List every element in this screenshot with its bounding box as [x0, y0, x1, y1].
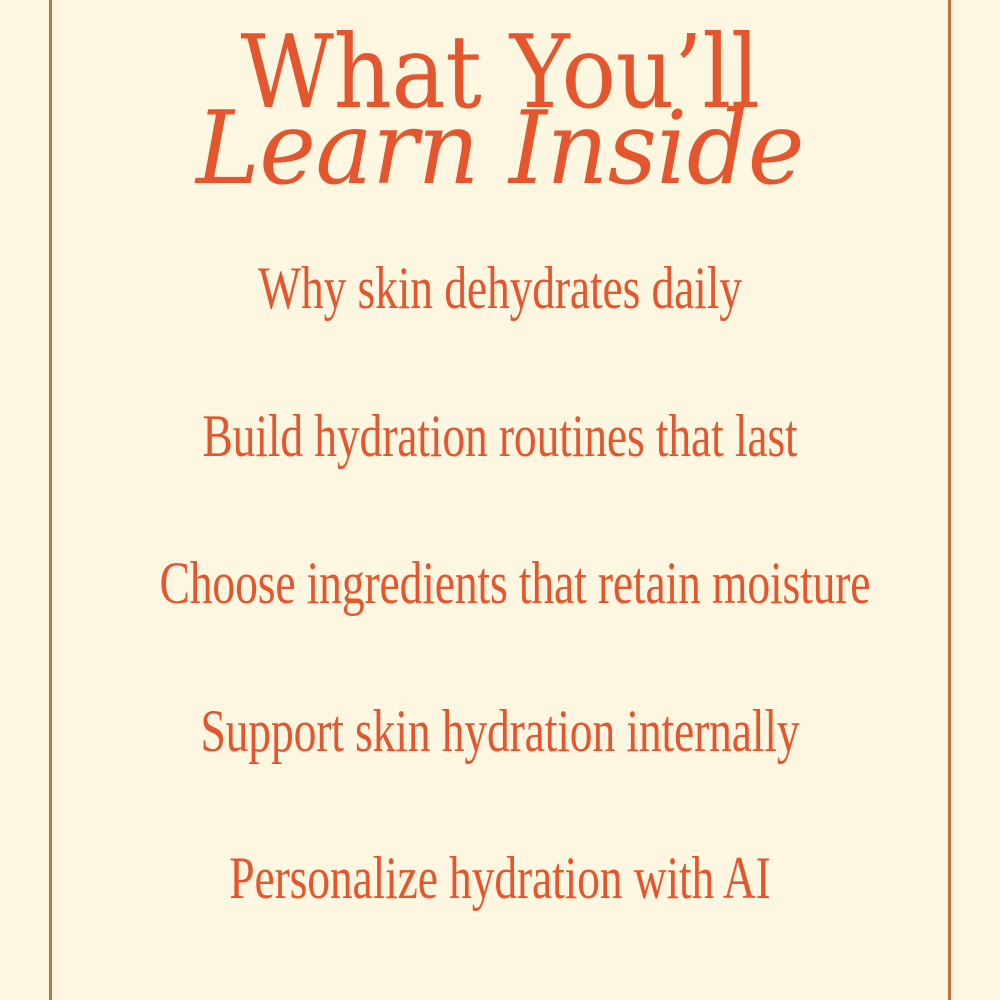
list-item: Choose ingredients that retain moisture: [160, 553, 841, 613]
right-vertical-rule: [948, 0, 951, 1000]
poster-content: What You’ll Learn Inside Why skin dehydr…: [52, 0, 948, 1000]
poster-canvas: What You’ll Learn Inside Why skin dehydr…: [0, 0, 1000, 1000]
list-item: Personalize hydration with AI: [160, 848, 841, 908]
page-title-line-2: Learn Inside: [74, 98, 925, 199]
list-item: Why skin dehydrates daily: [160, 258, 841, 318]
list-item: Support skin hydration internally: [160, 701, 841, 761]
list-item: Build hydration routines that last: [160, 406, 841, 466]
